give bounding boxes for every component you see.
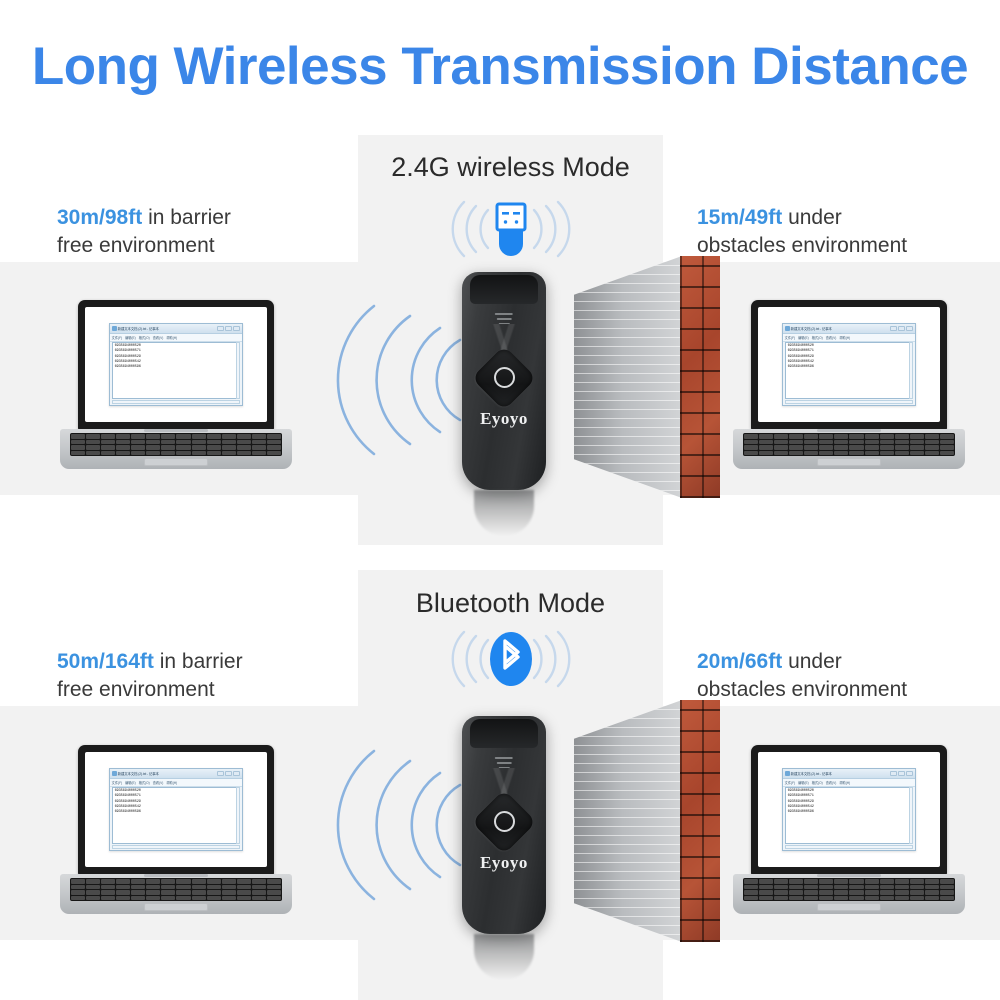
horizontal-scrollbar[interactable] xyxy=(112,400,241,404)
menu-edit[interactable]: 编辑(E) xyxy=(798,780,809,785)
close-button[interactable] xyxy=(233,326,240,331)
notepad-menubar[interactable]: 文件(F) 编辑(E) 格式(O) 查看(V) 帮助(H) xyxy=(783,334,916,342)
barcode-line: 6935694000596 xyxy=(115,365,238,370)
menu-edit[interactable]: 编辑(E) xyxy=(125,335,136,340)
minimize-button[interactable] xyxy=(217,326,224,331)
scanner-brand-logo: Eyoyo xyxy=(462,409,546,429)
horizontal-scrollbar[interactable] xyxy=(785,400,914,404)
laptop-screen: 新建文本文档 (2).txt - 记事本 文件(F) 编辑(E) 格式(O) 查… xyxy=(85,307,267,422)
caption-left-wireless: 30m/98ft in barrier free environment xyxy=(57,204,231,259)
notepad-menubar[interactable]: 文件(F) 编辑(E) 格式(O) 查看(V) 帮助(H) xyxy=(783,779,916,787)
menu-view[interactable]: 查看(V) xyxy=(153,780,164,785)
infographic-stage: Long Wireless Transmission Distance 2.4G… xyxy=(0,0,1000,1000)
menu-file[interactable]: 文件(F) xyxy=(785,780,795,785)
barcode-line: 6935694000596 xyxy=(115,810,238,815)
laptop-keyboard xyxy=(70,433,282,456)
barcode-line: 6935694000596 xyxy=(788,810,911,815)
close-button[interactable] xyxy=(233,771,240,776)
notepad-title: 新建文本文档 (2).txt - 记事本 xyxy=(118,771,159,776)
laptop-keyboard xyxy=(743,433,955,456)
vertical-scrollbar[interactable] xyxy=(236,787,240,844)
menu-edit[interactable]: 编辑(E) xyxy=(125,780,136,785)
notepad-window[interactable]: 新建文本文档 (2).txt - 记事本 文件(F) 编辑(E) 格式(O) 查… xyxy=(782,768,917,851)
condition-left-wireless-line1: in barrier xyxy=(148,206,231,229)
notepad-titlebar: 新建文本文档 (2).txt - 记事本 xyxy=(783,769,916,779)
notepad-app-icon xyxy=(785,771,790,776)
laptop-trackpad xyxy=(144,458,208,466)
laptop-hinge xyxy=(817,429,881,432)
condition-right-wireless-line2: obstacles environment xyxy=(697,234,907,257)
laptop-right-bluetooth: 新建文本文档 (2).txt - 记事本 文件(F) 编辑(E) 格式(O) 查… xyxy=(733,745,965,923)
notepad-titlebar: 新建文本文档 (2).txt - 记事本 xyxy=(110,324,243,334)
scanner-head xyxy=(470,719,539,747)
scanner-button-ring-icon[interactable] xyxy=(481,799,527,845)
bluetooth-icon-wrap xyxy=(358,626,663,696)
scanner-head xyxy=(470,275,539,303)
notepad-title: 新建文本文档 (2).txt - 记事本 xyxy=(118,326,159,331)
notepad-titlebar: 新建文本文档 (2).txt - 记事本 xyxy=(783,324,916,334)
scanner-body: Eyoyo xyxy=(462,716,546,934)
maximize-button[interactable] xyxy=(225,771,232,776)
brick-wall-obstacle-wireless xyxy=(574,256,720,498)
menu-edit[interactable]: 编辑(E) xyxy=(798,335,809,340)
distance-right-bluetooth: 20m/66ft xyxy=(697,650,782,673)
menu-view[interactable]: 查看(V) xyxy=(826,335,837,340)
condition-left-bluetooth-line1: in barrier xyxy=(160,650,243,673)
menu-file[interactable]: 文件(F) xyxy=(112,780,122,785)
menu-format[interactable]: 格式(O) xyxy=(812,780,823,785)
laptop-hinge xyxy=(144,874,208,877)
notepad-app-icon xyxy=(112,326,117,331)
barcode-scanner-wireless: Eyoyo xyxy=(462,272,546,490)
menu-file[interactable]: 文件(F) xyxy=(785,335,795,340)
laptop-lid: 新建文本文档 (2).txt - 记事本 文件(F) 编辑(E) 格式(O) 查… xyxy=(78,300,274,431)
menu-format[interactable]: 格式(O) xyxy=(139,780,150,785)
maximize-button[interactable] xyxy=(898,771,905,776)
maximize-button[interactable] xyxy=(225,326,232,331)
condition-right-wireless-line1: under xyxy=(788,206,842,229)
laptop-lid: 新建文本文档 (2).txt - 记事本 文件(F) 编辑(E) 格式(O) 查… xyxy=(751,745,947,876)
notepad-textarea[interactable]: 6935694000520 6935694000571 693569400052… xyxy=(112,342,241,399)
wall-brick-face xyxy=(680,256,720,498)
notepad-window[interactable]: 新建文本文档 (2).txt - 记事本 文件(F) 编辑(E) 格式(O) 查… xyxy=(109,768,244,851)
distance-left-bluetooth: 50m/164ft xyxy=(57,650,154,673)
scanner-body: Eyoyo xyxy=(462,272,546,490)
wall-brick-face xyxy=(680,700,720,942)
menu-help[interactable]: 帮助(H) xyxy=(166,780,177,785)
laptop-right-wireless: 新建文本文档 (2).txt - 记事本 文件(F) 编辑(E) 格式(O) 查… xyxy=(733,300,965,478)
laptop-left-wireless: 新建文本文档 (2).txt - 记事本 文件(F) 编辑(E) 格式(O) 查… xyxy=(60,300,292,478)
notepad-menubar[interactable]: 文件(F) 编辑(E) 格式(O) 查看(V) 帮助(H) xyxy=(110,779,243,787)
distance-right-wireless: 15m/49ft xyxy=(697,206,782,229)
menu-format[interactable]: 格式(O) xyxy=(812,335,823,340)
laptop-screen: 新建文本文档 (2).txt - 记事本 文件(F) 编辑(E) 格式(O) 查… xyxy=(758,307,940,422)
laptop-trackpad xyxy=(817,458,881,466)
page-title: Long Wireless Transmission Distance xyxy=(0,36,1000,97)
laptop-lid: 新建文本文档 (2).txt - 记事本 文件(F) 编辑(E) 格式(O) 查… xyxy=(751,300,947,431)
menu-view[interactable]: 查看(V) xyxy=(826,780,837,785)
condition-right-bluetooth-line1: under xyxy=(788,650,842,673)
caption-left-bluetooth: 50m/164ft in barrier free environment xyxy=(57,648,243,703)
laptop-hinge xyxy=(817,874,881,877)
vertical-scrollbar[interactable] xyxy=(909,787,913,844)
minimize-button[interactable] xyxy=(890,771,897,776)
wall-side-face xyxy=(574,700,682,942)
laptop-trackpad xyxy=(817,903,881,911)
notepad-textarea[interactable]: 6935694000520 6935694000571 693569400052… xyxy=(112,787,241,844)
laptop-left-bluetooth: 新建文本文档 (2).txt - 记事本 文件(F) 编辑(E) 格式(O) 查… xyxy=(60,745,292,923)
notepad-title: 新建文本文档 (2).txt - 记事本 xyxy=(791,326,832,331)
vertical-scrollbar[interactable] xyxy=(236,342,240,399)
wall-side-face xyxy=(574,256,682,498)
notepad-menubar[interactable]: 文件(F) 编辑(E) 格式(O) 查看(V) 帮助(H) xyxy=(110,334,243,342)
laptop-keyboard xyxy=(743,878,955,901)
distance-left-wireless: 30m/98ft xyxy=(57,206,142,229)
brick-wall-obstacle-bluetooth xyxy=(574,700,720,942)
laptop-hinge xyxy=(144,429,208,432)
notepad-titlebar: 新建文本文档 (2).txt - 记事本 xyxy=(110,769,243,779)
maximize-button[interactable] xyxy=(898,326,905,331)
horizontal-scrollbar[interactable] xyxy=(112,845,241,849)
laptop-lid: 新建文本文档 (2).txt - 记事本 文件(F) 编辑(E) 格式(O) 查… xyxy=(78,745,274,876)
notepad-textarea[interactable]: 6935694000520 6935694000571 693569400052… xyxy=(785,342,914,399)
minimize-button[interactable] xyxy=(217,771,224,776)
scanner-button-ring-icon[interactable] xyxy=(481,355,527,401)
condition-left-wireless-line2: free environment xyxy=(57,234,215,257)
notepad-window[interactable]: 新建文本文档 (2).txt - 记事本 文件(F) 编辑(E) 格式(O) 查… xyxy=(109,323,244,406)
menu-view[interactable]: 查看(V) xyxy=(153,335,164,340)
usb-dongle-icon xyxy=(426,196,596,262)
mode-title-wireless: 2.4G wireless Mode xyxy=(358,152,663,183)
notepad-title: 新建文本文档 (2).txt - 记事本 xyxy=(791,771,832,776)
menu-file[interactable]: 文件(F) xyxy=(112,335,122,340)
barcode-line: 6935694000596 xyxy=(788,365,911,370)
notepad-app-icon xyxy=(112,771,117,776)
laptop-keyboard xyxy=(70,878,282,901)
condition-right-bluetooth-line2: obstacles environment xyxy=(697,678,907,701)
menu-help[interactable]: 帮助(H) xyxy=(839,780,850,785)
menu-format[interactable]: 格式(O) xyxy=(139,335,150,340)
caption-right-wireless: 15m/49ft under obstacles environment xyxy=(697,204,907,259)
notepad-textarea[interactable]: 6935694000520 6935694000571 693569400052… xyxy=(785,787,914,844)
vertical-scrollbar[interactable] xyxy=(909,342,913,399)
caption-right-bluetooth: 20m/66ft under obstacles environment xyxy=(697,648,907,703)
close-button[interactable] xyxy=(906,771,913,776)
bluetooth-icon xyxy=(426,626,596,692)
mode-title-bluetooth: Bluetooth Mode xyxy=(358,588,663,619)
close-button[interactable] xyxy=(906,326,913,331)
notepad-app-icon xyxy=(785,326,790,331)
laptop-screen: 新建文本文档 (2).txt - 记事本 文件(F) 编辑(E) 格式(O) 查… xyxy=(758,752,940,867)
laptop-trackpad xyxy=(144,903,208,911)
menu-help[interactable]: 帮助(H) xyxy=(166,335,177,340)
horizontal-scrollbar[interactable] xyxy=(785,845,914,849)
laptop-screen: 新建文本文档 (2).txt - 记事本 文件(F) 编辑(E) 格式(O) 查… xyxy=(85,752,267,867)
scanner-brand-logo: Eyoyo xyxy=(462,853,546,873)
condition-left-bluetooth-line2: free environment xyxy=(57,678,215,701)
minimize-button[interactable] xyxy=(890,326,897,331)
scanner-grill-icon xyxy=(495,757,513,771)
notepad-window[interactable]: 新建文本文档 (2).txt - 记事本 文件(F) 编辑(E) 格式(O) 查… xyxy=(782,323,917,406)
menu-help[interactable]: 帮助(H) xyxy=(839,335,850,340)
barcode-scanner-bluetooth: Eyoyo xyxy=(462,716,546,934)
scanner-grill-icon xyxy=(495,313,513,327)
